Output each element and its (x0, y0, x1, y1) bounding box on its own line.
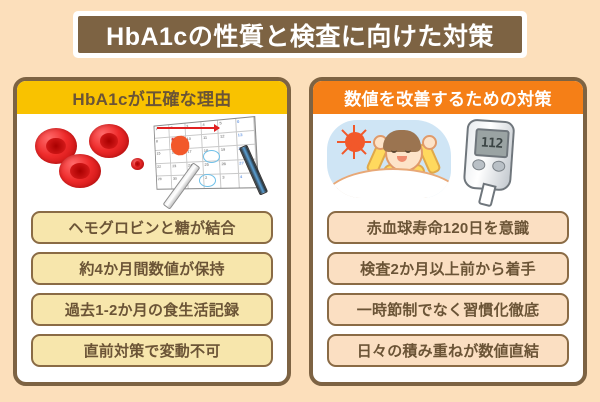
list-item: 赤血球寿命120日を意識 (327, 211, 569, 244)
calendar-range-arrow-icon (157, 127, 219, 129)
card-left-illustration: 1234567 891011121314 15161718192021 2223… (17, 114, 287, 203)
list-item-label: 検査2か月以上前から着手 (360, 258, 536, 279)
person-hand-icon (422, 135, 437, 150)
list-item: 直前対策で変動不可 (31, 334, 273, 367)
card-improvement-measures: 数値を改善するための対策 1 (309, 77, 587, 386)
red-blood-cell-icon (89, 124, 129, 158)
calendar-marked-date-icon (203, 150, 220, 163)
list-item-label: 約4か月間数値が保持 (79, 258, 224, 279)
red-blood-cell-icon (131, 158, 144, 170)
glucose-meter-button (472, 159, 486, 171)
card-left-header: HbA1cが正確な理由 (17, 81, 287, 114)
glucose-meter-button (492, 160, 506, 172)
card-hba1c-reasons: HbA1cが正確な理由 1234567 891011121314 1516171… (13, 77, 291, 386)
list-item-label: ヘモグロビンと糖が結合 (68, 217, 235, 238)
list-item: 過去1-2か月の食生活記録 (31, 293, 273, 326)
card-right-illustration: 112 (313, 114, 583, 203)
glucose-meter-screen: 112 (474, 128, 510, 158)
glucose-meter-reading: 112 (480, 135, 503, 151)
page-title: HbA1cの性質と検査に向けた対策 (106, 17, 494, 53)
card-left-item-list: ヘモグロビンと糖が結合 約4か月間数値が保持 過去1-2か月の食生活記録 直前対… (17, 211, 287, 367)
list-item-label: 過去1-2か月の食生活記録 (65, 299, 239, 320)
person-hair-icon (383, 130, 421, 152)
calendar-marked-date-icon (199, 174, 216, 187)
list-item: ヘモグロビンと糖が結合 (31, 211, 273, 244)
glucose-meter-icon: 112 (463, 118, 516, 191)
list-item: 検査2か月以上前から着手 (327, 252, 569, 285)
list-item-label: 日々の積み重ねが数値直結 (357, 340, 539, 361)
list-item: 一時節制でなく習慣化徹底 (327, 293, 569, 326)
list-item-label: 直前対策で変動不可 (84, 340, 221, 361)
list-item: 約4か月間数値が保持 (31, 252, 273, 285)
page-title-frame: HbA1cの性質と検査に向けた対策 (73, 11, 527, 58)
red-blood-cell-icon (59, 154, 101, 188)
card-left-header-label: HbA1cが正確な理由 (72, 85, 231, 110)
wake-up-scene-icon (327, 120, 451, 198)
list-item-label: 赤血球寿命120日を意識 (367, 217, 529, 238)
list-item: 日々の積み重ねが数値直結 (327, 334, 569, 367)
list-item-label: 一時節制でなく習慣化徹底 (357, 299, 539, 320)
page-title-bar: HbA1cの性質と検査に向けた対策 (78, 16, 522, 53)
glucose-test-strip-icon (478, 183, 497, 208)
card-right-item-list: 赤血球寿命120日を意識 検査2か月以上前から着手 一時節制でなく習慣化徹底 日… (313, 211, 583, 367)
card-right-header: 数値を改善するための対策 (313, 81, 583, 114)
card-right-header-label: 数値を改善するための対策 (344, 85, 552, 110)
